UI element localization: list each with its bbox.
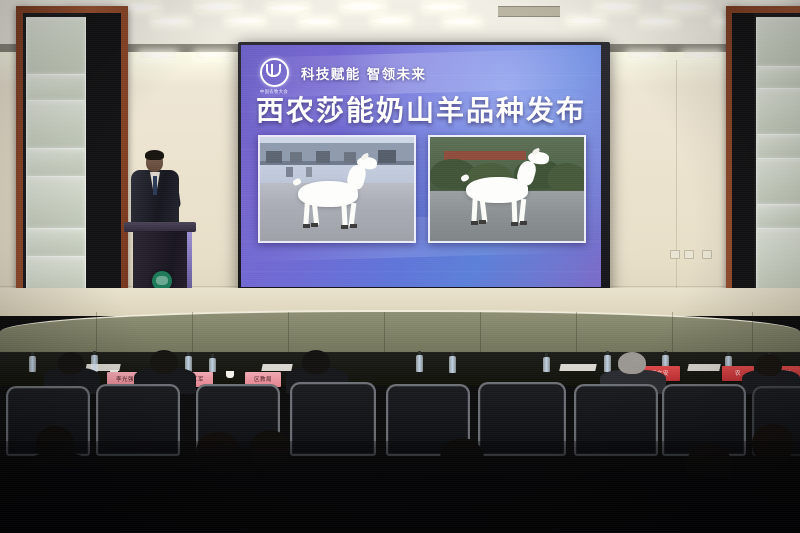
speaker-hair <box>145 150 164 160</box>
goat-photo-right <box>428 135 586 243</box>
table-paper <box>559 364 596 371</box>
wall-outlet[interactable] <box>670 250 680 259</box>
cove-light <box>628 52 662 58</box>
screen-main-title: 西农莎能奶山羊品种发布 <box>241 89 601 129</box>
glass-pane <box>756 159 800 205</box>
ceiling-light <box>596 2 636 11</box>
cove-light <box>140 52 176 58</box>
table-paper <box>261 364 292 371</box>
wall-panel-left <box>16 6 128 306</box>
table-cup <box>226 371 234 378</box>
led-screen: 中国农牧大会 科技赋能 智领未来 西农莎能奶山羊品种发布 <box>241 45 601 287</box>
water-bottle <box>209 358 216 372</box>
water-bottle <box>449 356 456 373</box>
glass-pane <box>26 149 86 177</box>
wall-outlet[interactable] <box>702 250 712 259</box>
foreground-shadow <box>0 441 800 533</box>
photo-scene: 中国农牧大会 科技赋能 智领未来 西农莎能奶山羊品种发布 <box>0 0 800 533</box>
attendee-head <box>150 350 178 374</box>
glass-pane <box>756 89 800 135</box>
glass-pane <box>756 67 800 89</box>
screen-tagline: 科技赋能 智领未来 <box>301 63 426 83</box>
ceiling-light <box>268 4 308 12</box>
water-bottle <box>543 357 550 372</box>
wall-outlet[interactable] <box>684 250 694 259</box>
glass-pane <box>26 101 86 149</box>
glass-pane <box>26 177 86 229</box>
table-paper <box>687 364 720 371</box>
ceiling-light <box>640 18 678 25</box>
ceiling-vent <box>498 6 560 17</box>
attendee-head <box>618 352 646 374</box>
water-bottle <box>416 355 423 372</box>
ceiling-light <box>300 18 336 25</box>
glass-pane <box>756 205 800 229</box>
goat-photo-left <box>258 135 416 243</box>
water-bottle <box>604 355 611 372</box>
glass-pane <box>26 17 86 75</box>
speaker-tie <box>153 176 157 195</box>
glass-pane <box>756 135 800 159</box>
glass-pane <box>26 75 86 101</box>
ceiling-light <box>196 2 240 11</box>
wall-panel-right <box>726 6 800 306</box>
ceiling-light <box>444 18 480 25</box>
attendee-head <box>302 350 330 374</box>
ceiling-light <box>152 18 190 25</box>
water-bottle <box>29 356 36 372</box>
ceiling-light <box>666 3 708 12</box>
glass-pane <box>756 17 800 67</box>
glass-pane <box>26 229 86 257</box>
ceiling-light <box>424 3 464 11</box>
ceiling-light <box>372 17 410 24</box>
ceiling-light <box>568 17 604 24</box>
circular-emblem-icon <box>260 58 289 87</box>
attendee-head <box>58 352 84 374</box>
cove-light <box>196 52 230 58</box>
attendee-head <box>756 354 782 376</box>
cove-light <box>684 52 720 58</box>
ceiling-light <box>342 2 384 11</box>
ceiling-light <box>226 17 264 24</box>
